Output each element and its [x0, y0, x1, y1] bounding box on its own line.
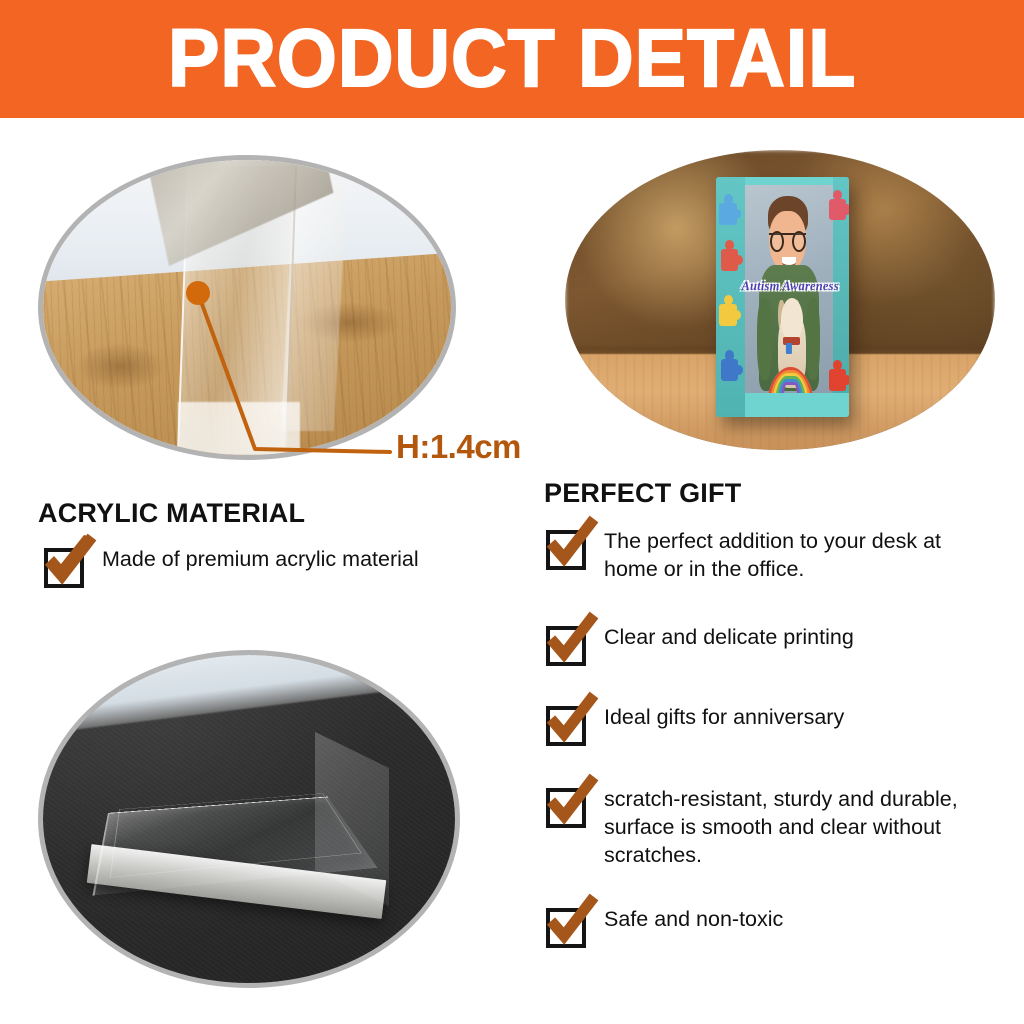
puzzle-piece-icon — [829, 369, 846, 391]
feature-text: Made of premium acrylic material — [102, 546, 534, 574]
gift-box: Autism Awareness — [716, 177, 849, 417]
check-icon — [43, 535, 97, 587]
page-title: PRODUCT DETAIL — [168, 18, 856, 100]
photo-gift-box: Autism Awareness — [565, 150, 995, 450]
puzzle-piece-icon — [719, 203, 736, 225]
feature-text: Ideal gifts for anniversary — [604, 704, 984, 732]
figure-right-arm — [806, 298, 821, 380]
check-icon — [545, 517, 599, 569]
dimension-label-height: H:1.4cm — [396, 428, 521, 466]
dog-bone-tag-icon — [786, 343, 792, 354]
checkbox-checked[interactable] — [546, 706, 586, 746]
puzzle-piece-icon — [721, 359, 738, 381]
section-heading-acrylic-material: ACRYLIC MATERIAL — [38, 498, 305, 529]
glasses-left-lens — [770, 231, 784, 252]
check-icon — [545, 613, 599, 665]
check-icon — [545, 895, 599, 947]
feature-text: Clear and delicate printing — [604, 624, 984, 652]
acrylic-base — [178, 402, 300, 455]
feature-item: Made of premium acrylic material — [44, 546, 534, 588]
feature-item: scratch-resistant, sturdy and durable, s… — [546, 786, 984, 870]
wood-grain-knot — [76, 343, 166, 390]
puzzle-piece-icon — [829, 199, 846, 221]
check-icon — [545, 775, 599, 827]
box-bottom-panel — [745, 393, 849, 417]
check-icon — [545, 693, 599, 745]
feature-text: The perfect addition to your desk at hom… — [604, 528, 984, 584]
checkbox-checked[interactable] — [546, 530, 586, 570]
box-label-text: Autism Awareness — [739, 279, 840, 294]
section-heading-perfect-gift: PERFECT GIFT — [544, 478, 741, 509]
glasses-right-lens — [792, 231, 806, 252]
dog-head — [781, 298, 803, 341]
feature-item: Safe and non-toxic — [546, 906, 984, 948]
feature-text: Safe and non-toxic — [604, 906, 984, 934]
checkbox-checked[interactable] — [546, 908, 586, 948]
feature-item: The perfect addition to your desk at hom… — [546, 528, 984, 584]
checkbox-checked[interactable] — [546, 626, 586, 666]
puzzle-piece-icon — [721, 249, 738, 271]
wood-scene — [43, 160, 451, 455]
checkbox-checked[interactable] — [546, 788, 586, 828]
glasses-icon — [769, 233, 806, 250]
photo-acrylic-edge — [38, 155, 456, 460]
photo-acrylic-block — [38, 650, 460, 988]
feature-text: scratch-resistant, sturdy and durable, s… — [604, 786, 984, 870]
checkbox-checked[interactable] — [44, 548, 84, 588]
feature-item: Clear and delicate printing — [546, 624, 984, 666]
product-detail-page: PRODUCT DETAIL — [0, 0, 1024, 1024]
header-banner: PRODUCT DETAIL — [0, 0, 1024, 118]
figure-left-arm — [757, 298, 772, 380]
puzzle-piece-icon — [719, 304, 736, 326]
feature-item: Ideal gifts for anniversary — [546, 704, 984, 746]
